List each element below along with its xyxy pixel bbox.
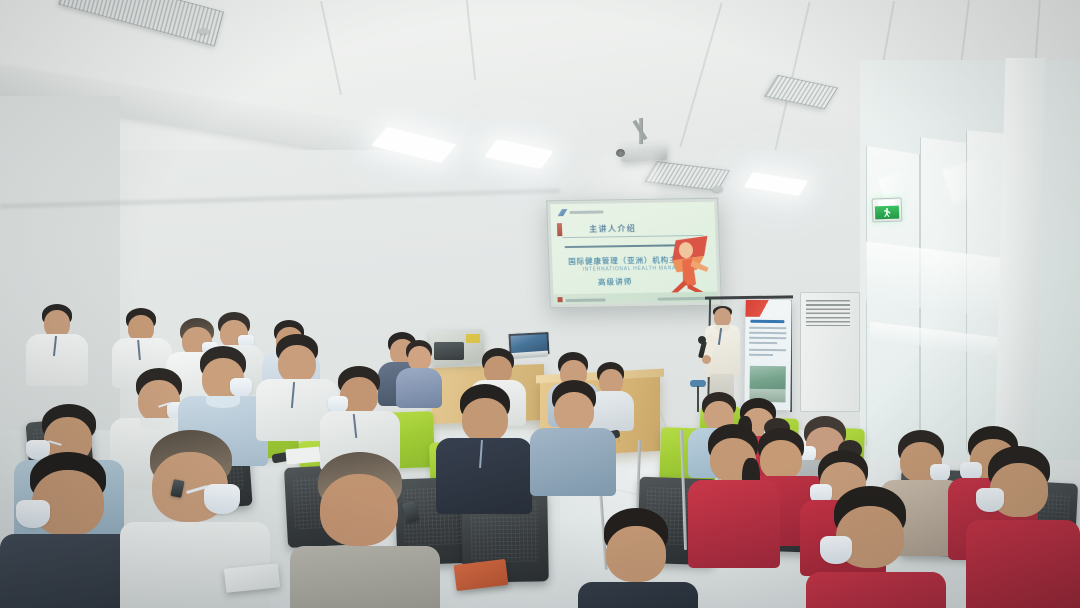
banner-header <box>745 300 791 318</box>
slide-footer-text <box>566 298 606 302</box>
torso <box>290 546 440 608</box>
emergency-exit-sign <box>872 197 903 222</box>
head <box>278 345 316 383</box>
equipment-label-sticker <box>466 334 480 343</box>
presenter <box>702 308 742 404</box>
presentation-slide: 主讲人介绍 国际健康管理（亚洲）机构主任 INTERNATIONAL HEALT… <box>550 202 718 305</box>
banner-headline <box>750 320 784 323</box>
head <box>554 392 594 432</box>
torso <box>806 572 946 608</box>
audience-member <box>26 304 88 384</box>
torso <box>26 334 88 386</box>
audience-member <box>436 384 532 510</box>
slide-logo-text <box>569 210 603 214</box>
audience-member <box>688 424 780 564</box>
head <box>320 474 398 546</box>
banner-text-line <box>749 327 786 329</box>
face-mask <box>230 378 252 397</box>
torso <box>578 582 698 608</box>
banner-text-line <box>749 354 773 356</box>
audience-member-foreground <box>578 508 698 608</box>
exit-sign-panel <box>875 206 899 220</box>
slide-footer-text-right <box>658 297 712 301</box>
audience-member-foreground <box>966 446 1080 608</box>
banner-text-line <box>749 349 786 351</box>
left-wall <box>0 96 120 456</box>
slide-illustration-icon <box>661 234 715 295</box>
banner-image <box>749 366 785 402</box>
slide-title-accent-bar <box>557 223 562 236</box>
projection-screen: 主讲人介绍 国际健康管理（亚洲）机构主任 INTERNATIONAL HEALT… <box>546 198 722 309</box>
face-mask <box>820 536 852 564</box>
collar <box>206 396 240 408</box>
torso <box>436 438 532 514</box>
roll-up-banner <box>744 300 791 411</box>
banner-text-line <box>749 337 786 339</box>
face-mask <box>16 500 50 528</box>
slide-logo-icon <box>557 209 567 216</box>
smoke-detector <box>712 186 723 192</box>
air-conditioner-grille <box>806 300 850 326</box>
slide-title: 主讲人介绍 <box>589 223 636 235</box>
ceiling-projector <box>621 143 668 162</box>
head <box>606 526 666 582</box>
audience-member <box>530 380 616 492</box>
audience-member-foreground <box>806 486 946 608</box>
torso <box>530 428 616 496</box>
head <box>462 398 508 442</box>
microphone-head-icon <box>698 336 706 344</box>
collar <box>140 418 176 430</box>
paper-sheet <box>285 447 320 465</box>
torso <box>966 520 1080 608</box>
slide-line-3: 高级讲师 <box>598 276 633 288</box>
slide-arrow-icon <box>565 244 677 248</box>
presenter-hand <box>702 355 711 364</box>
face-mask <box>204 484 240 514</box>
running-man-icon <box>883 208 890 217</box>
face-mask <box>976 488 1004 512</box>
slide-footer-mark-icon <box>557 297 562 302</box>
smoke-detector <box>198 28 209 34</box>
audience-member-foreground <box>290 452 440 608</box>
torso <box>688 480 780 568</box>
seminar-room-photo: 主讲人介绍 国际健康管理（亚洲）机构主任 INTERNATIONAL HEALT… <box>0 0 1080 608</box>
banner-text-line <box>749 332 786 334</box>
torso <box>120 522 270 608</box>
banner-text-line <box>749 342 777 344</box>
